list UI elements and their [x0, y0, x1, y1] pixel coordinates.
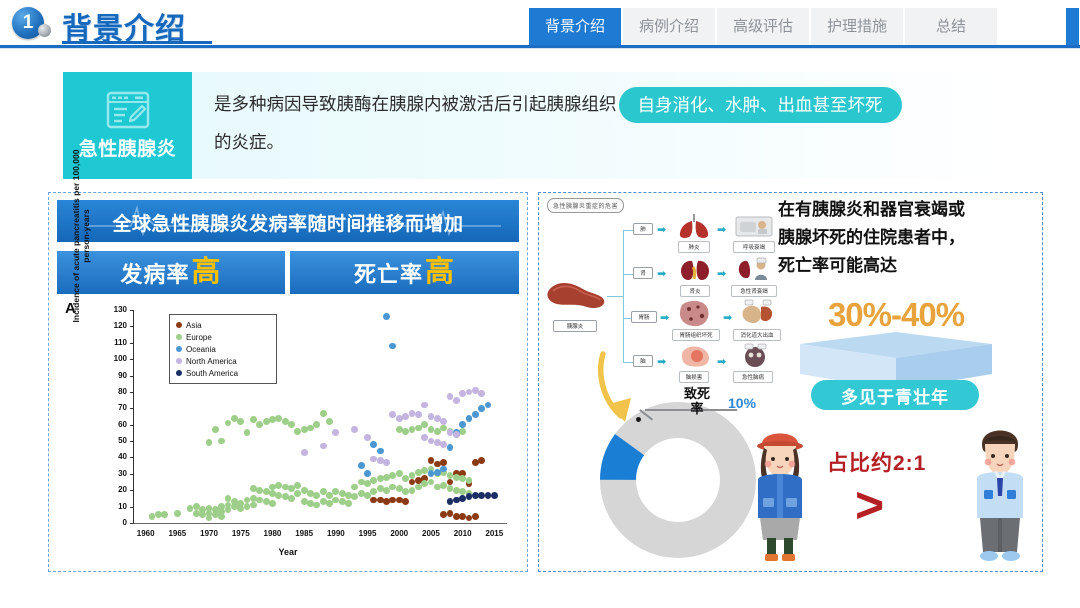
chart-point: [466, 477, 473, 484]
chart-point: [491, 492, 498, 499]
chart-point: [447, 444, 454, 451]
chart-y-tick-mark: [130, 376, 134, 377]
chart-legend-dot: [176, 370, 182, 376]
chart-y-tick-label: 120: [101, 321, 127, 330]
mortality-percent-value: 30%-40%: [800, 296, 992, 334]
chart-point: [440, 482, 447, 489]
greater-than-sign: >: [855, 480, 884, 530]
chart-y-tick-mark: [130, 408, 134, 409]
chart-legend-item: Europe: [176, 331, 270, 343]
diagram-middle-3: 胃肠组织坏死: [672, 329, 720, 341]
necrotic-gut-icon: [677, 298, 713, 328]
chart-point: [250, 502, 257, 509]
chart-x-tick-label: 2005: [416, 529, 446, 538]
girl-illustration: [740, 418, 820, 564]
chart-point: [415, 411, 422, 418]
chart-point: [485, 402, 492, 409]
chart-legend-label: Europe: [186, 333, 212, 342]
chart-y-tick-mark: [130, 457, 134, 458]
chart-y-tick-mark: [130, 507, 134, 508]
kidneys-icon: [679, 258, 711, 284]
chart-point: [351, 484, 358, 491]
chart-point: [472, 513, 479, 520]
chart-y-tick-label: 90: [101, 371, 127, 380]
chart-y-tick-mark: [130, 310, 134, 311]
kpi-incidence-label: 发病率: [120, 257, 189, 289]
chart-y-tick-label: 0: [101, 518, 127, 527]
chart-point: [174, 510, 181, 517]
chart-y-tick-mark: [130, 474, 134, 475]
chart-point: [389, 343, 396, 350]
definition-text-part2: 的炎症。: [214, 132, 284, 152]
incidence-scatter-chart: A Incidence of acute pancreatitis per 10…: [57, 298, 519, 566]
chart-x-axis-title: Year: [57, 547, 519, 557]
diagram-outcome-3: 消化道大出血: [733, 329, 781, 341]
lungs-icon: [677, 214, 711, 240]
chart-point: [301, 449, 308, 456]
tree-trunk: [607, 296, 623, 297]
title-underline: [62, 41, 212, 44]
kpi-incidence-value: 高: [192, 258, 222, 287]
chart-y-tick-mark: [130, 490, 134, 491]
chart-point: [218, 438, 225, 445]
arrow-icon-1a: ➡: [657, 225, 666, 236]
arrow-icon-3b: ➡: [723, 313, 732, 324]
mortality-donut-chart: [598, 400, 758, 560]
chart-legend-item: Oceania: [176, 343, 270, 355]
chart-legend-label: Oceania: [186, 345, 216, 354]
diagram-middle-1: 肺炎: [678, 241, 710, 253]
chart-point: [332, 429, 339, 436]
chart-point: [225, 420, 232, 427]
definition-text: 是多种病因导致胰酶在胰腺内被激活后引起胰腺组织自身消化、水肿、出血甚至坏死 的炎…: [214, 85, 1004, 161]
chart-point: [364, 470, 371, 477]
chart-point: [320, 410, 327, 417]
tree-spine: [623, 230, 624, 362]
chart-y-tick-label: 40: [101, 452, 127, 461]
tab-summary[interactable]: 总结: [905, 8, 997, 45]
y-axis-title-line2: person-years: [81, 136, 91, 336]
chart-legend-dot: [176, 358, 182, 364]
header-divider-soft: [0, 48, 1080, 49]
chart-point: [478, 405, 485, 412]
kpi-incidence: 发病率 高: [57, 251, 285, 294]
chart-point: [370, 441, 377, 448]
definition-text-part1: 是多种病因导致胰酶在胰腺内被激活后引起胰腺组织: [214, 94, 617, 114]
arrow-icon-4b: ➡: [717, 357, 726, 368]
donut-value: 10%: [728, 395, 756, 411]
chart-y-tick-mark: [130, 425, 134, 426]
chart-y-tick-mark: [130, 343, 134, 344]
chart-point: [383, 459, 390, 466]
chart-legend-label: South America: [186, 369, 238, 378]
document-pen-icon: [105, 91, 151, 129]
chart-point: [364, 434, 371, 441]
chart-point: [440, 459, 447, 466]
chart-legend-label: North America: [186, 357, 237, 366]
chart-point: [345, 500, 352, 507]
diagram-outcome-1: 呼吸衰竭: [733, 241, 775, 253]
chart-point: [402, 488, 409, 495]
incidence-banner-text: 全球急性胰腺炎发病率随时间推移而增加: [57, 209, 519, 236]
diagram-outcome-4: 急性脑病: [733, 371, 773, 383]
chart-x-tick-label: 1975: [226, 529, 256, 538]
arrow-icon-2b: ➡: [717, 269, 726, 280]
chart-point: [453, 397, 460, 404]
y-axis-title-line1: Incidence of acute pancreatitis per 100,…: [71, 136, 81, 336]
chart-y-tick-label: 130: [101, 305, 127, 314]
boy-illustration: [960, 418, 1040, 564]
brain-icon: [677, 344, 713, 370]
chart-point: [440, 418, 447, 425]
chart-point: [402, 428, 409, 435]
chart-x-tick-label: 2015: [479, 529, 509, 538]
chart-point: [428, 479, 435, 486]
kpi-mortality: 死亡率 高: [290, 251, 519, 294]
chart-x-tick-label: 2010: [448, 529, 478, 538]
arrow-icon-2a: ➡: [657, 269, 666, 280]
page-header: 1 背景介绍 背景介绍 病例介绍 高级评估 护理措施 总结: [0, 0, 1080, 47]
chart-point: [421, 480, 428, 487]
chart-y-tick-label: 110: [101, 338, 127, 347]
chart-x-tick-label: 1965: [162, 529, 192, 538]
chart-point: [459, 421, 466, 428]
chart-point: [402, 413, 409, 420]
diagram-organ-2: 肾: [633, 267, 653, 279]
chart-point: [440, 511, 447, 518]
tree-branch-2: [623, 274, 633, 275]
chart-y-tick-mark: [130, 359, 134, 360]
tree-branch-1: [623, 230, 633, 231]
chart-point: [218, 513, 225, 520]
chart-x-tick-label: 1960: [131, 529, 161, 538]
chart-point: [206, 439, 213, 446]
chart-x-tick-label: 2000: [384, 529, 414, 538]
chart-point: [161, 511, 168, 518]
donut-label-line1: 致死: [680, 386, 714, 401]
ventilator-bed-icon: [735, 213, 773, 240]
chart-point: [478, 457, 485, 464]
definition-highlight-pill: 自身消化、水肿、出血甚至坏死: [619, 87, 902, 123]
chart-x-axis-line: [133, 523, 507, 524]
chart-x-tick-label: 1985: [289, 529, 319, 538]
diagram-title: 急性胰腺炎重症的危害: [547, 198, 624, 213]
chart-point: [212, 426, 219, 433]
chart-y-tick-label: 70: [101, 403, 127, 412]
chart-point: [459, 390, 466, 397]
chart-x-tick-label: 1990: [321, 529, 351, 538]
chart-x-tick-label: 1980: [257, 529, 287, 538]
chart-point: [402, 498, 409, 505]
tab-background[interactable]: 背景介绍: [529, 8, 621, 45]
chart-point: [294, 482, 301, 489]
acute-encephalopathy-icon: [737, 343, 773, 370]
arrow-icon-3a: ➡: [660, 313, 669, 324]
tab-nursing[interactable]: 护理措施: [811, 8, 903, 45]
chart-point: [421, 434, 428, 441]
chart-point: [421, 421, 428, 428]
mortality-statement: 在有胰腺炎和器官衰竭或 胰腺坏死的住院患者中， 死亡率可能高达: [778, 196, 1040, 280]
incidence-banner: 全球急性胰腺炎发病率随时间推移而增加: [57, 200, 519, 242]
chart-point: [472, 411, 479, 418]
chart-point: [244, 429, 251, 436]
diagram-organ-3: 胃肠: [631, 311, 657, 323]
chart-y-tick-mark: [130, 326, 134, 327]
donut-label-line2: 率: [680, 401, 714, 416]
chart-point: [421, 467, 428, 474]
diagram-middle-4: 脑损害: [679, 371, 709, 383]
chart-point: [459, 475, 466, 482]
chart-point: [313, 492, 320, 499]
chart-point: [459, 428, 466, 435]
chart-y-tick-label: 20: [101, 485, 127, 494]
badge-shadow-dot: [38, 24, 51, 37]
chart-point: [459, 513, 466, 520]
chart-point: [377, 448, 384, 455]
ratio-text: 占比约2:1: [827, 447, 926, 477]
chart-point: [313, 421, 320, 428]
chart-point: [440, 425, 447, 432]
age-group-pill: 多见于青壮年: [811, 380, 979, 410]
tab-assessment[interactable]: 高级评估: [717, 8, 809, 45]
tab-bar-end-cap: [1066, 8, 1079, 45]
chart-point: [320, 443, 327, 450]
chart-y-tick-mark: [130, 441, 134, 442]
chart-point: [288, 495, 295, 502]
chart-point: [237, 418, 244, 425]
chart-y-tick-mark: [130, 523, 134, 524]
chart-point: [326, 418, 333, 425]
tab-case[interactable]: 病例介绍: [623, 8, 715, 45]
chart-point: [358, 462, 365, 469]
chart-y-tick-mark: [130, 392, 134, 393]
chart-point: [453, 431, 460, 438]
chart-y-tick-label: 50: [101, 436, 127, 445]
diagram-middle-2: 肾炎: [680, 285, 710, 297]
mortality-line-3: 死亡率可能高达: [778, 252, 1040, 280]
mortality-line-1: 在有胰腺炎和器官衰竭或: [778, 196, 1040, 224]
donut-leader-dot: [636, 417, 641, 422]
gi-bleeding-icon: [739, 299, 775, 327]
kpi-mortality-value: 高: [425, 258, 455, 287]
chart-point: [459, 495, 466, 502]
chart-point: [402, 475, 409, 482]
mortality-line-2: 胰腺坏死的住院患者中，: [778, 224, 1040, 252]
arrow-icon-1b: ➡: [717, 225, 726, 236]
diagram-organ-1: 肺: [633, 223, 653, 235]
chart-legend-item: North America: [176, 355, 270, 367]
chart-legend-dot: [176, 334, 182, 340]
chart-y-tick-label: 100: [101, 354, 127, 363]
chart-point: [288, 421, 295, 428]
chart-point: [351, 426, 358, 433]
chart-point: [269, 500, 276, 507]
diagram-source-label: 胰腺炎: [553, 320, 597, 332]
donut-label: 致死 率: [680, 386, 714, 416]
chart-y-tick-label: 10: [101, 502, 127, 511]
chart-legend-item: Asia: [176, 319, 270, 331]
chart-point: [383, 313, 390, 320]
pancreas-icon: [545, 276, 607, 318]
chart-y-tick-label: 30: [101, 469, 127, 478]
kpi-mortality-label: 死亡率: [354, 257, 423, 289]
chart-point: [478, 390, 485, 397]
chart-y-tick-label: 80: [101, 387, 127, 396]
nav-tabs[interactable]: 背景介绍 病例介绍 高级评估 护理措施 总结: [529, 8, 999, 45]
chart-point: [421, 402, 428, 409]
chart-legend-label: Asia: [186, 321, 202, 330]
chart-legend-dot: [176, 346, 182, 352]
chart-legend-dot: [176, 322, 182, 328]
chart-x-tick-label: 1970: [194, 529, 224, 538]
chart-legend: AsiaEuropeOceaniaNorth AmericaSouth Amer…: [169, 314, 277, 384]
chart-y-tick-label: 60: [101, 420, 127, 429]
chart-point: [440, 441, 447, 448]
chart-x-tick-label: 1995: [353, 529, 383, 538]
chart-legend-item: South America: [176, 367, 270, 379]
definition-badge-label: 急性胰腺炎: [79, 134, 177, 161]
chart-y-axis-title: Incidence of acute pancreatitis per 100,…: [71, 136, 91, 336]
kidney-failure-patient-icon: [737, 256, 773, 284]
diagram-outcome-2: 急性肾衰竭: [731, 285, 777, 297]
